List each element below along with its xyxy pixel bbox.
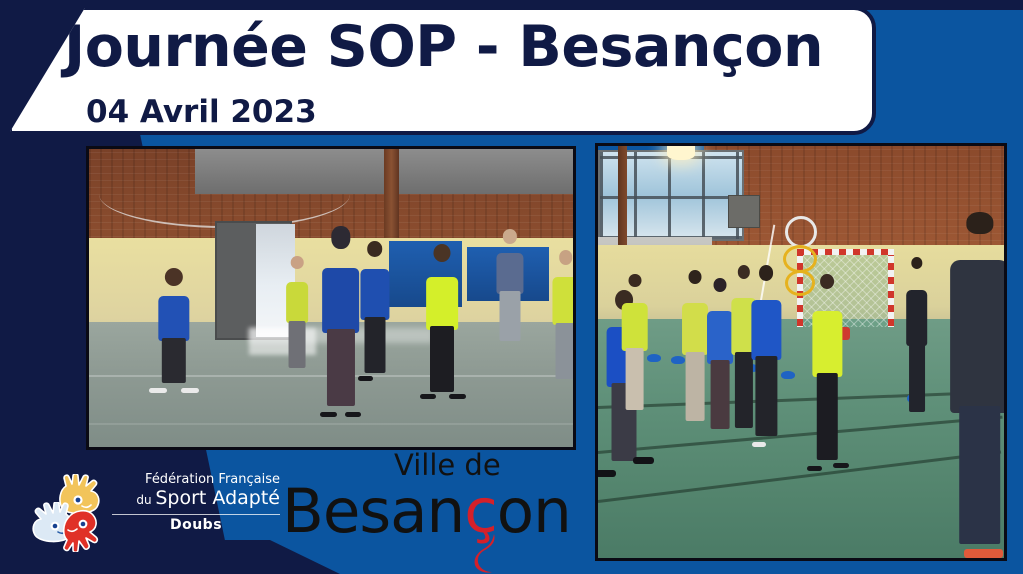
ffsa-line-1: Fédération Française (112, 472, 280, 488)
besancon-wordmark: Besançon (282, 476, 571, 547)
target-hoop-top (785, 216, 817, 248)
person-near-goal (903, 257, 931, 422)
ffsa-region: Doubs (112, 517, 280, 533)
besancon-part-1: Besan (282, 476, 464, 547)
photo-left (86, 146, 576, 450)
ffsa-logo: Fédération Française du Sport Adapté Dou… (30, 470, 280, 555)
besancon-part-2: on (497, 476, 571, 547)
floor-line-2 (89, 423, 573, 425)
ffsa-sport-adapte: Sport Adapté (155, 487, 280, 509)
ffsa-hands-mark (30, 474, 108, 552)
person-yellow-bib-far (285, 256, 309, 375)
goal-post-right (888, 249, 894, 327)
besancon-cedilla-mark-icon (474, 534, 500, 570)
ffsa-divider (112, 514, 280, 515)
person-edge (549, 250, 576, 384)
ceiling-lamp (667, 146, 695, 160)
person-yellow-bib-right (423, 244, 462, 399)
ffsa-wordmark: Fédération Française du Sport Adapté Dou… (112, 472, 280, 533)
page-title: Journée SOP - Besançon (64, 14, 823, 80)
wall-heater (728, 195, 760, 228)
title-card: Journée SOP - Besançon 04 Avril 2023 (8, 6, 876, 135)
poster: Journée SOP - Besançon 04 Avril 2023 (0, 0, 1023, 574)
person-yellow-bib-center (809, 274, 846, 472)
person-group-4 (748, 265, 785, 446)
ffsa-line-2: du Sport Adapté (112, 488, 280, 511)
photo-left-scene (89, 149, 573, 447)
person-foreground-right (947, 212, 1007, 558)
hand-red-icon (60, 508, 108, 552)
person-yellow-bib-left (618, 274, 650, 422)
ffsa-du: du (136, 493, 155, 507)
photo-right-scene (598, 146, 1004, 558)
besancon-logo: Ville de Besançon (282, 448, 582, 558)
photo-right (595, 143, 1007, 561)
person-walking-far (493, 229, 527, 348)
target-hoop-middle (783, 245, 817, 273)
person-blue-bib-right (358, 241, 392, 381)
event-date: 04 Avril 2023 (86, 94, 317, 130)
person-coach (152, 268, 196, 393)
